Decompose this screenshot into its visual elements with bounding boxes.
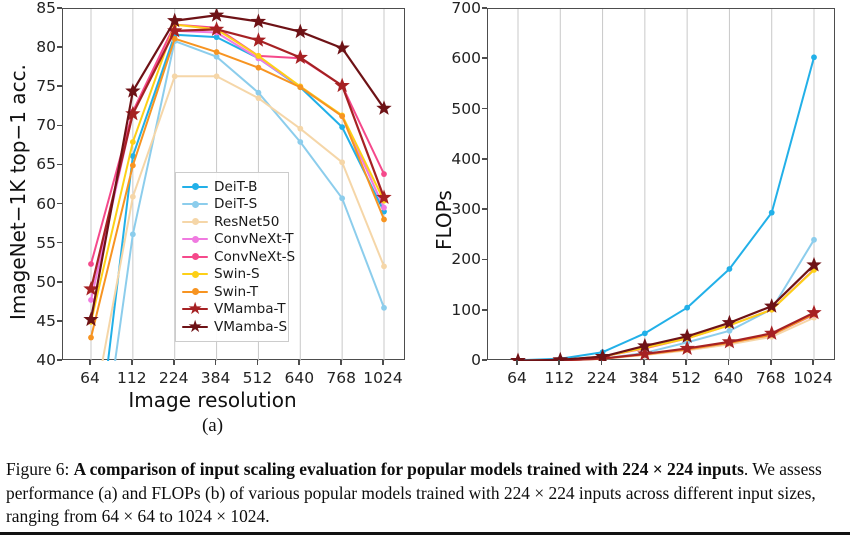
x-tick-label: 1024: [363, 369, 402, 387]
data-point-deit-b: [811, 54, 817, 60]
x-axis-label-accuracy: Image resolution: [0, 388, 425, 412]
x-tick-mark: [728, 360, 730, 365]
legend-label: ConvNeXt-S: [214, 249, 295, 265]
panel-accuracy: 40455055606570758085 6411222438451264076…: [0, 0, 425, 440]
caption-prefix: Figure 6:: [6, 459, 69, 479]
x-tick-mark: [685, 360, 687, 365]
data-point-deit-s: [297, 139, 303, 145]
x-tick-label: 768: [756, 369, 786, 387]
x-tick-mark: [173, 360, 175, 365]
y-tick-mark: [57, 359, 62, 361]
x-tick-mark: [131, 360, 133, 365]
y-tick-mark: [57, 164, 62, 166]
data-point-swin-t: [88, 335, 94, 341]
y-tick-mark: [57, 203, 62, 205]
x-tick-label: 512: [671, 369, 701, 387]
legend-label: ConvNeXt-T: [214, 231, 294, 247]
y-tick-mark: [482, 7, 487, 9]
x-tick-mark: [601, 360, 603, 365]
x-tick-mark: [643, 360, 645, 365]
legend-swatch-icon: ★: [182, 302, 208, 316]
x-tick-label: 384: [201, 369, 231, 387]
data-point-resnet50: [256, 95, 262, 101]
y-tick-label: 0: [435, 351, 481, 369]
data-point-resnet50: [172, 73, 178, 79]
y-tick-mark: [482, 158, 487, 160]
x-tick-label: 512: [243, 369, 273, 387]
data-point-resnet50: [339, 159, 345, 165]
x-tick-label: 384: [629, 369, 659, 387]
x-tick-label: 224: [587, 369, 617, 387]
x-tick-mark: [89, 360, 91, 365]
data-point-swin-t: [256, 65, 262, 71]
subcaption-a: (a): [0, 415, 425, 437]
legend-item-convnext-t[interactable]: ConvNeXt-T: [182, 231, 280, 249]
legend-label: DeiT-S: [214, 196, 257, 212]
y-tick-mark: [482, 259, 487, 261]
data-point-swin-t: [297, 84, 303, 90]
data-point-deit-s: [727, 328, 733, 334]
y-tick-mark: [57, 281, 62, 283]
caption-bold: A comparison of input scaling evaluation…: [74, 459, 744, 479]
y-tick-label: 40: [10, 351, 56, 369]
data-point-deit-s: [381, 305, 387, 311]
y-tick-label: 100: [435, 301, 481, 319]
y-tick-mark: [57, 46, 62, 48]
y-tick-label: 700: [435, 0, 481, 17]
data-point-vmamba-s: [511, 353, 525, 366]
legend-label: VMamba-S: [214, 319, 287, 335]
y-tick-mark: [57, 125, 62, 127]
legend-item-resnet50[interactable]: ResNet50: [182, 213, 280, 231]
data-point-deit-b: [684, 305, 690, 311]
y-axis-label-accuracy: ImageNet−1K top−1 acc.: [6, 64, 30, 320]
legend-swatch-icon: [182, 250, 208, 264]
x-tick-label: 112: [544, 369, 574, 387]
data-point-deit-s: [811, 237, 817, 243]
data-point-convnext-t: [381, 205, 387, 211]
x-tick-label: 112: [117, 369, 147, 387]
data-point-deit-b: [769, 210, 775, 216]
data-point-swin-t: [130, 163, 136, 169]
x-tick-label: 64: [507, 369, 527, 387]
data-point-swin-s: [256, 53, 262, 59]
data-point-resnet50: [130, 194, 136, 200]
flops-line-chart: [488, 9, 836, 361]
x-tick-label: 1024: [793, 369, 832, 387]
data-point-resnet50: [297, 126, 303, 132]
data-point-convnext-s: [88, 261, 94, 267]
data-point-swin-t: [381, 217, 387, 223]
data-point-convnext-t: [88, 297, 94, 303]
x-tick-label: 640: [714, 369, 744, 387]
legend-item-deit-s[interactable]: DeiT-S: [182, 196, 280, 214]
x-tick-mark: [298, 360, 300, 365]
y-axis-label-flops: FLOPs: [432, 190, 456, 250]
figure-caption: Figure 6: A comparison of input scaling …: [6, 458, 844, 529]
data-point-deit-s: [256, 90, 262, 96]
data-point-resnet50: [214, 73, 220, 79]
y-tick-label: 600: [435, 49, 481, 67]
legend-item-swin-s[interactable]: Swin-S: [182, 266, 280, 284]
data-point-resnet50: [381, 263, 387, 269]
x-tick-label: 64: [80, 369, 100, 387]
data-point-swin-t: [214, 49, 220, 55]
legend-item-swin-t[interactable]: Swin-T: [182, 283, 280, 301]
panel-flops: 0100200300400500600700 64112224384512640…: [425, 0, 850, 440]
y-tick-mark: [482, 208, 487, 210]
y-tick-mark: [57, 320, 62, 322]
data-point-deit-b: [727, 266, 733, 272]
legend-swatch-icon: ★: [182, 320, 208, 334]
y-tick-mark: [57, 85, 62, 87]
legend-label: VMamba-T: [214, 301, 286, 317]
x-tick-label: 640: [284, 369, 314, 387]
figure-container: 40455055606570758085 6411222438451264076…: [0, 0, 850, 535]
x-tick-mark: [215, 360, 217, 365]
y-tick-mark: [482, 309, 487, 311]
plot-area-flops: [487, 8, 835, 360]
legend-accuracy: DeiT-BDeiT-SResNet50ConvNeXt-TConvNeXt-S…: [175, 172, 289, 342]
legend-swatch-icon: [182, 197, 208, 211]
y-tick-label: 80: [10, 38, 56, 56]
legend-swatch-icon: [182, 267, 208, 281]
legend-swatch-icon: [182, 285, 208, 299]
x-tick-mark: [257, 360, 259, 365]
data-point-vmamba-s: [553, 353, 567, 366]
y-tick-mark: [57, 242, 62, 244]
x-tick-mark: [558, 360, 560, 365]
y-tick-label: 500: [435, 100, 481, 118]
legend-label: ResNet50: [214, 214, 279, 230]
x-tick-mark: [516, 360, 518, 365]
legend-label: Swin-T: [214, 284, 258, 300]
y-tick-mark: [482, 57, 487, 59]
x-tick-label: 768: [326, 369, 356, 387]
legend-item-deit-b[interactable]: DeiT-B: [182, 178, 280, 196]
series-line-deit-b: [518, 57, 814, 360]
y-tick-mark: [57, 7, 62, 9]
x-tick-mark: [382, 360, 384, 365]
series-line-vmamba-s: [518, 265, 814, 361]
legend-swatch-icon: [182, 215, 208, 229]
y-tick-label: 400: [435, 150, 481, 168]
data-point-swin-s: [130, 139, 136, 145]
x-tick-mark: [770, 360, 772, 365]
legend-swatch-icon: [182, 232, 208, 246]
data-point-convnext-s: [381, 171, 387, 177]
data-point-deit-s: [339, 195, 345, 201]
y-tick-mark: [482, 108, 487, 110]
y-tick-label: 85: [10, 0, 56, 17]
series-line-resnet50: [518, 318, 814, 361]
legend-label: Swin-S: [214, 266, 260, 282]
legend-item-convnext-s[interactable]: ConvNeXt-S: [182, 248, 280, 266]
y-tick-mark: [482, 359, 487, 361]
data-point-swin-t: [339, 113, 345, 119]
legend-item-vmamba-s[interactable]: ★VMamba-S: [182, 318, 280, 336]
legend-swatch-icon: [182, 180, 208, 194]
legend-label: DeiT-B: [214, 179, 257, 195]
x-tick-label: 224: [159, 369, 189, 387]
data-point-deit-b: [339, 124, 345, 130]
data-point-deit-s: [130, 231, 136, 237]
x-tick-mark: [340, 360, 342, 365]
y-tick-label: 200: [435, 250, 481, 268]
x-tick-mark: [812, 360, 814, 365]
data-point-deit-b: [642, 330, 648, 336]
legend-item-vmamba-t[interactable]: ★VMamba-T: [182, 301, 280, 319]
